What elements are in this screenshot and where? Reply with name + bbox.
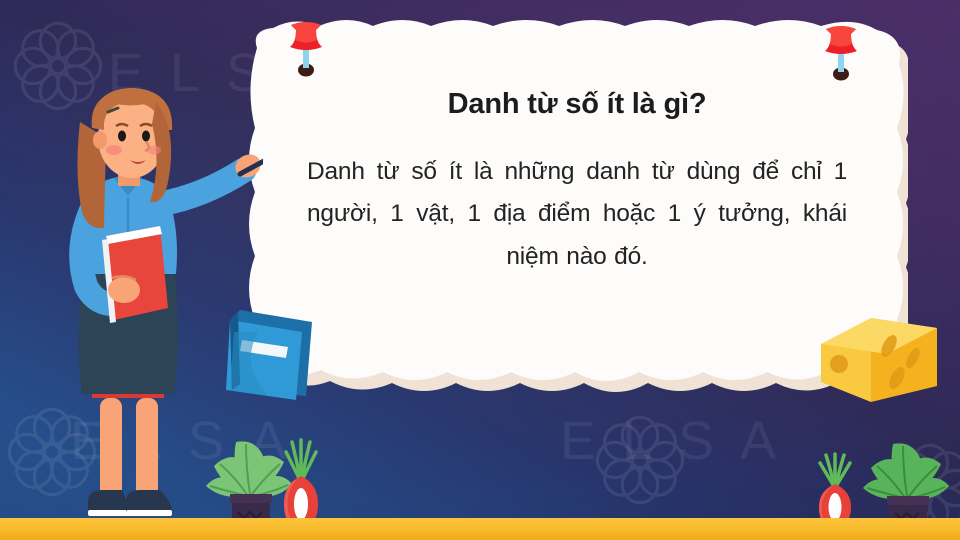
blue-book-illustration <box>222 296 317 404</box>
board-text-block: Danh từ số ít là gì? Danh từ số ít là nh… <box>303 88 851 278</box>
content-board: Danh từ số ít là gì? Danh từ số ít là nh… <box>243 18 908 398</box>
board-title: Danh từ số ít là gì? <box>303 88 851 121</box>
red-pushpin-left-icon <box>283 16 329 78</box>
floor-strip <box>0 518 960 540</box>
monstera-plant-right-illustration <box>855 414 960 530</box>
slide-canvas: ELSA ELSA ELSA ELSA ELSA <box>0 0 960 540</box>
board-body-text: Danh từ số ít là những danh từ dùng để c… <box>303 151 851 277</box>
red-vase-grass-left-illustration <box>278 438 324 530</box>
cheese-wedge-illustration <box>815 310 960 410</box>
elsa-rosette-logo-icon <box>588 408 692 512</box>
red-pushpin-right-icon <box>818 20 864 82</box>
